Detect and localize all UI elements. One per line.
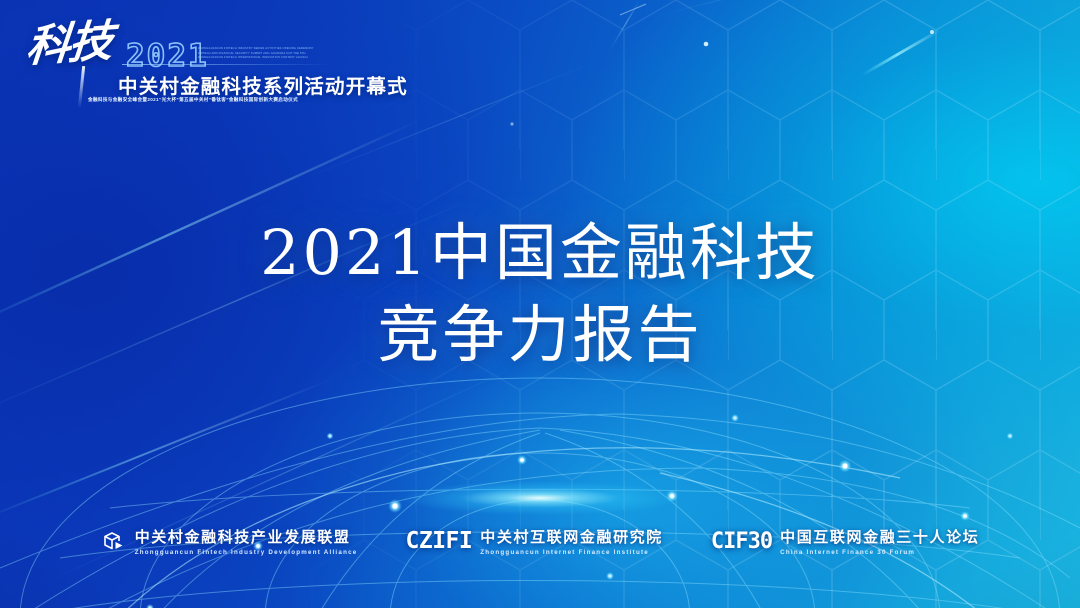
brush-calligraphy-text: 科技 — [22, 13, 129, 90]
title-line-2: 竞争力报告 — [0, 294, 1080, 376]
partner-name-en: Zhongguancun Fintech Industry Developmen… — [135, 549, 358, 556]
partner-logo-cif30: CIF30 中国互联网金融三十人论坛 China Internet Financ… — [711, 526, 979, 557]
event-header-logo: 科技 2021 ZHONGGUANCUN FINTECH INDUSTRY SE… — [22, 14, 352, 106]
header-rule-divider — [122, 64, 332, 65]
partner-logo-czifi: CZIFI 中关村互联网金融研究院 Zhongguancun Internet … — [406, 526, 663, 557]
footer-logo-bar: 中关村金融科技产业发展联盟 Zhongguancun Fintech Indus… — [0, 518, 1080, 564]
poster-stage: 科技 2021 ZHONGGUANCUN FINTECH INDUSTRY SE… — [0, 0, 1080, 608]
event-name: 中关村金融科技系列活动开幕式 — [118, 70, 408, 99]
cif30-wordmark-icon: CIF30 — [711, 529, 772, 554]
header-micro-line-1: ZHONGGUANCUN FINTECH INDUSTRY SERIES ACT… — [198, 47, 330, 52]
partner-name-cn: 中关村互联网金融研究院 — [480, 526, 663, 547]
cube-emblem-icon — [101, 528, 127, 554]
title-line-1: 2021中国金融科技 — [0, 212, 1080, 294]
page-title: 2021中国金融科技 竞争力报告 — [0, 212, 1080, 376]
header-micro-text: ZHONGGUANCUN FINTECH INDUSTRY SERIES ACT… — [198, 47, 330, 61]
event-year: 2021 — [126, 38, 209, 74]
event-subtitle: 金融科技与金融安全峰会暨2021“光大杯”第五届中关村“番钛客”金融科技国际创新… — [88, 97, 298, 103]
partner-name-cn: 中关村金融科技产业发展联盟 — [135, 526, 358, 547]
header-micro-line-3: ZHONGGUANCUN FINTECH INTERNATIONAL INNOV… — [198, 56, 330, 61]
partner-name-cn: 中国互联网金融三十人论坛 — [780, 526, 979, 547]
partner-name-en: Zhongguancun Internet Finance Institute — [480, 549, 663, 556]
partner-logo-alliance: 中关村金融科技产业发展联盟 Zhongguancun Fintech Indus… — [101, 526, 358, 557]
partner-name-en: China Internet Finance 30 Forum — [780, 549, 979, 556]
czifi-wordmark-icon: CZIFI — [406, 528, 473, 554]
